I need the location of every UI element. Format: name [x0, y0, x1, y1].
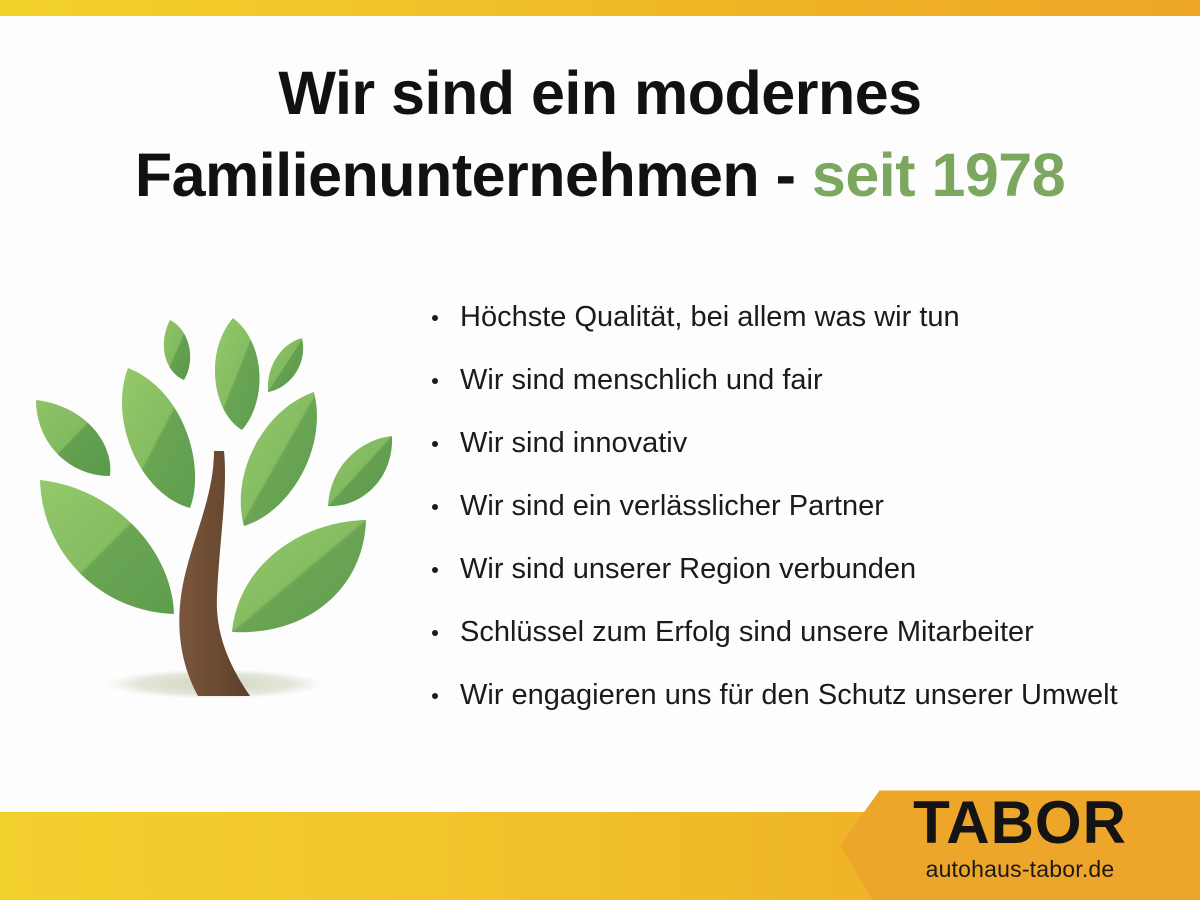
headline-accent-year: seit 1978	[812, 141, 1065, 209]
headline-line-1: Wir sind ein modernes	[0, 52, 1200, 134]
list-item-label: Wir sind innovativ	[460, 427, 687, 459]
list-item: Wir sind unserer Region verbunden	[430, 538, 1190, 601]
list-item-label: Schlüssel zum Erfolg sind unsere Mitarbe…	[460, 616, 1034, 648]
list-item: Höchste Qualität, bei allem was wir tun	[430, 286, 1190, 349]
headline-line-2-main: Familienunternehmen -	[135, 141, 812, 209]
bullet-dot-icon	[432, 441, 438, 447]
list-item: Wir sind menschlich und fair	[430, 349, 1190, 412]
bullet-dot-icon	[432, 504, 438, 510]
leaf-lower-right	[232, 520, 366, 632]
list-item: Wir sind innovativ	[430, 412, 1190, 475]
tree-illustration	[18, 296, 418, 716]
value-bullet-list: Höchste Qualität, bei allem was wir tun …	[430, 286, 1190, 727]
leaf-lower-left	[40, 480, 174, 614]
leaf-far-left	[36, 400, 110, 476]
leaf-top-center	[215, 318, 260, 430]
leaf-top-right-small	[268, 338, 303, 392]
list-item: Wir engagieren uns für den Schutz unsere…	[430, 664, 1190, 727]
list-item-label: Wir sind unserer Region verbunden	[460, 553, 916, 585]
leaf-top-left-small	[164, 320, 190, 380]
list-item: Wir sind ein verlässlicher Partner	[430, 475, 1190, 538]
list-item-label: Wir engagieren uns für den Schutz unsere…	[460, 679, 1118, 711]
brand-wordmark: TABOR	[840, 792, 1200, 854]
bullet-dot-icon	[432, 315, 438, 321]
bullet-dot-icon	[432, 693, 438, 699]
list-item: Schlüssel zum Erfolg sind unsere Mitarbe…	[430, 601, 1190, 664]
page-title: Wir sind ein modernes Familienunternehme…	[0, 52, 1200, 216]
bullet-dot-icon	[432, 630, 438, 636]
bullet-dot-icon	[432, 567, 438, 573]
brand-logo-badge[interactable]: TABOR autohaus-tabor.de	[840, 752, 1200, 900]
bullet-dot-icon	[432, 378, 438, 384]
top-accent-bar	[0, 0, 1200, 16]
list-item-label: Höchste Qualität, bei allem was wir tun	[460, 301, 960, 333]
list-item-label: Wir sind menschlich und fair	[460, 364, 823, 396]
brand-website-url[interactable]: autohaus-tabor.de	[840, 856, 1200, 882]
leaf-upper-left	[122, 368, 195, 508]
headline-line-2: Familienunternehmen - seit 1978	[0, 134, 1200, 216]
list-item-label: Wir sind ein verlässlicher Partner	[460, 490, 884, 522]
slide-canvas: Wir sind ein modernes Familienunternehme…	[0, 0, 1200, 900]
leaf-far-right	[328, 436, 392, 506]
brand-logo-inner: TABOR autohaus-tabor.de	[840, 792, 1200, 882]
